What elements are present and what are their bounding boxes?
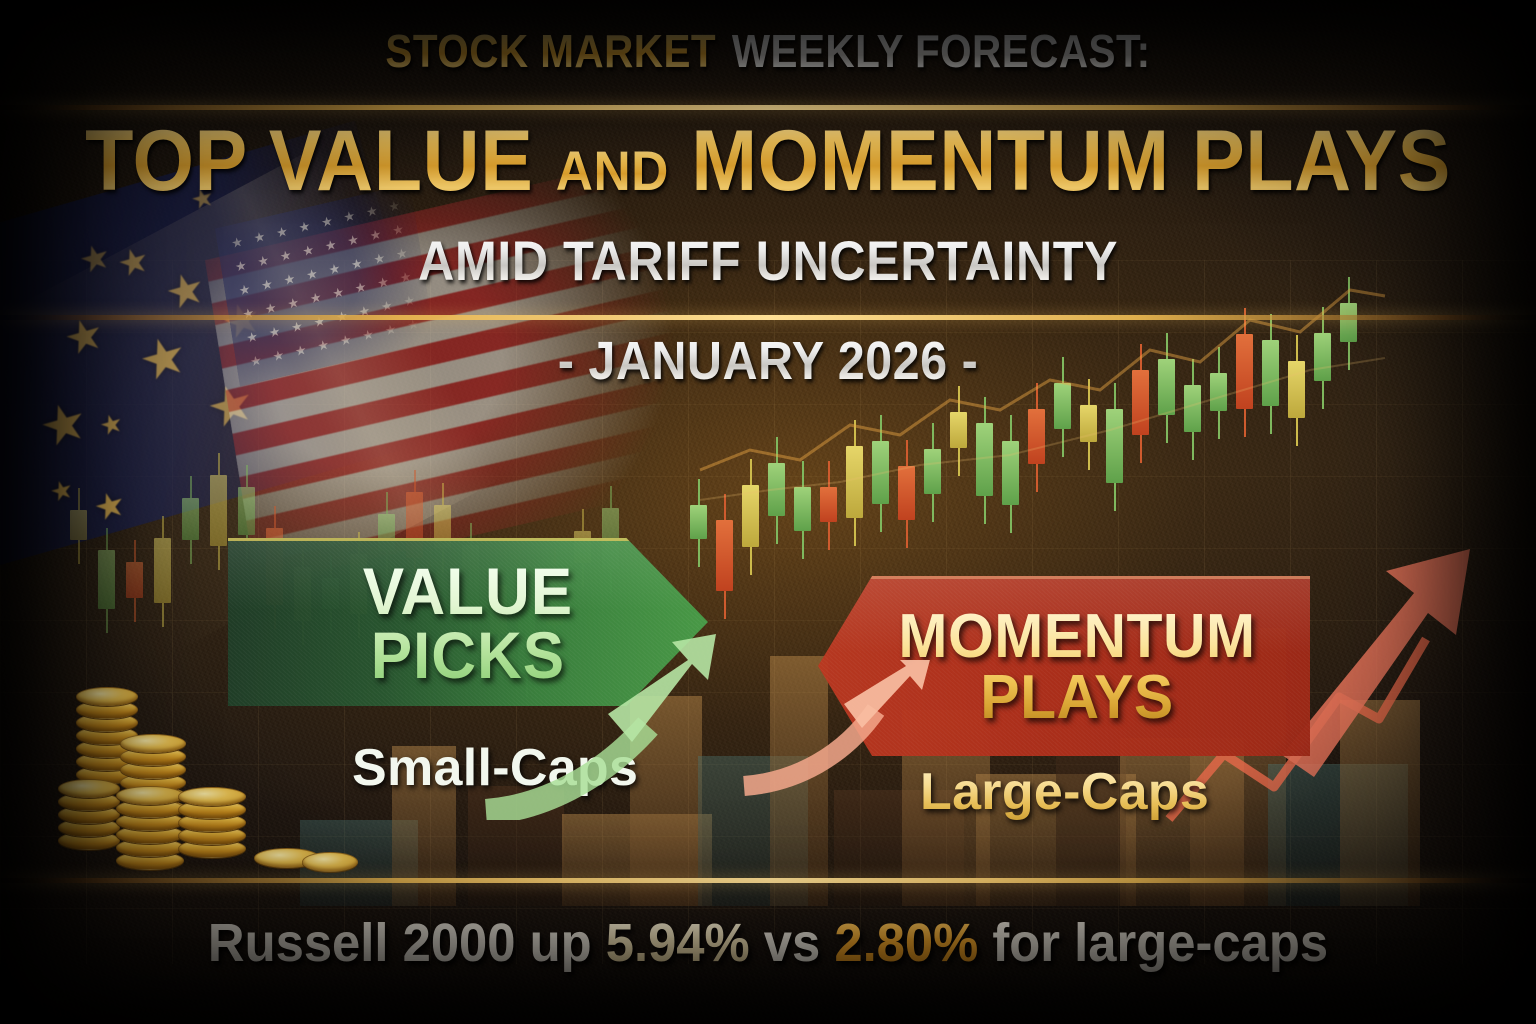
us-star-icon: ★ — [287, 295, 300, 310]
value-picks-banner[interactable]: VALUE PICKS — [228, 538, 708, 706]
kicker-line: STOCK MARKETWEEKLY FORECAST: — [92, 26, 1444, 77]
candlestick-icon — [154, 390, 171, 690]
us-star-icon: ★ — [264, 301, 277, 316]
momentum-plays-banner[interactable]: MOMENTUM PLAYS — [818, 576, 1310, 756]
candlestick-icon — [126, 390, 143, 690]
title-part-2: MOMENTUM PLAYS — [669, 113, 1451, 209]
divider-middle — [0, 315, 1536, 320]
subtitle: AMID TARIFF UNCERTAINTY — [77, 230, 1459, 292]
candlestick-icon — [70, 390, 87, 690]
footer-large-cap-pct: 2.80% — [834, 913, 978, 973]
coin-icon — [178, 787, 246, 806]
title-conjunction: AND — [556, 139, 669, 202]
coin-icon — [120, 734, 186, 753]
value-picks-line2: PICKS — [371, 618, 565, 692]
coin-icon — [76, 687, 138, 706]
kicker-silver-text: WEEKLY FORECAST: — [732, 25, 1151, 77]
building-icon — [770, 656, 828, 906]
building-icon — [630, 696, 702, 906]
subtitle-text: AMID TARIFF UNCERTAINTY — [418, 229, 1118, 292]
title-part-1: TOP VALUE — [85, 113, 556, 209]
momentum-plays-line1: MOMENTUM — [898, 602, 1255, 671]
footer-seg-1: Russell 2000 up — [208, 913, 606, 973]
poster-canvas: ★★★★★★★★★★★★ ★★★★★★★★★★★★★★★★★★★★★★★★★★★… — [0, 0, 1536, 1024]
divider-top — [0, 105, 1536, 110]
date-line: - JANUARY 2026 - — [77, 332, 1459, 391]
building-icon — [468, 786, 564, 906]
candlestick-icon — [182, 390, 199, 690]
footer-seg-5: for large-caps — [978, 913, 1328, 973]
footer-seg-3: vs — [750, 913, 835, 973]
small-caps-caption: Small-Caps — [352, 738, 638, 798]
momentum-plays-label: MOMENTUM PLAYS — [898, 607, 1255, 727]
us-star-icon: ★ — [320, 214, 333, 229]
us-star-icon: ★ — [309, 290, 322, 305]
page-title: TOP VALUE AND MOMENTUM PLAYS — [61, 118, 1474, 204]
coin-icon — [58, 779, 120, 798]
divider-bottom — [0, 878, 1536, 883]
coin-icon — [116, 786, 184, 805]
date-text: - JANUARY 2026 - — [558, 331, 978, 391]
footer-small-cap-pct: 5.94% — [606, 913, 750, 973]
coin-icon — [302, 852, 358, 872]
us-star-icon: ★ — [403, 293, 416, 308]
us-star-icon: ★ — [380, 298, 393, 313]
candlestick-icon — [98, 390, 115, 690]
value-picks-label: VALUE PICKS — [363, 560, 573, 687]
us-star-icon: ★ — [343, 209, 356, 224]
kicker-gold-text: STOCK MARKET — [385, 25, 716, 77]
candlestick-icon — [210, 390, 227, 690]
trend-line-overlay — [690, 250, 1390, 550]
footer-stat-line: Russell 2000 up 5.94% vs 2.80% for large… — [46, 912, 1490, 974]
large-caps-caption: Large-Caps — [920, 762, 1209, 822]
momentum-plays-line2: PLAYS — [980, 663, 1173, 732]
